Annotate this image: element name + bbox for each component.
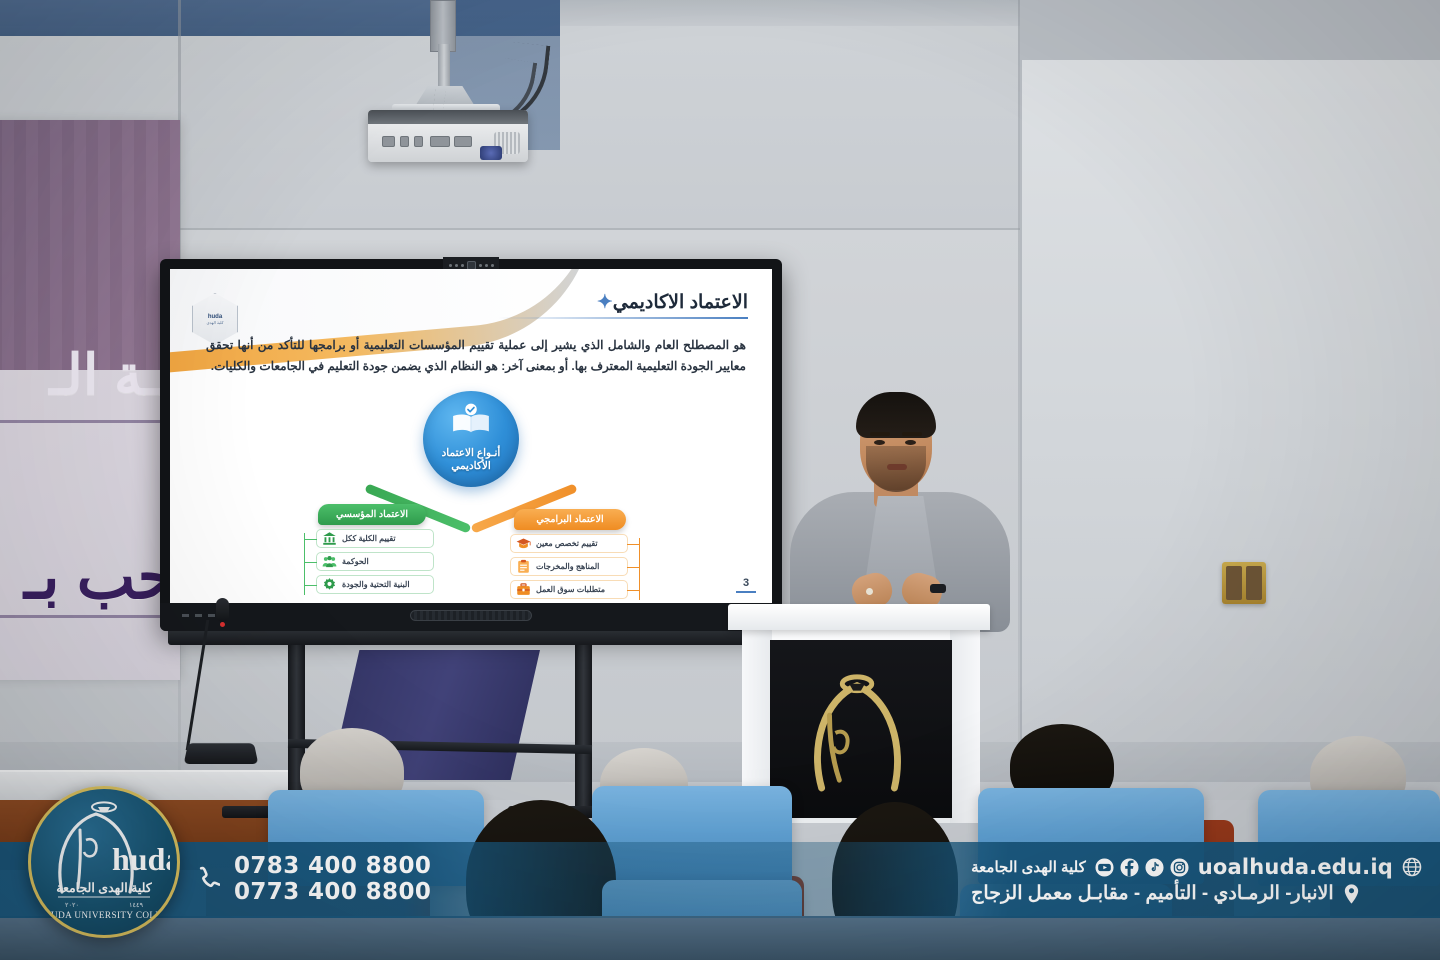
presenter-eye-right — [905, 440, 916, 445]
display-screen[interactable]: huda كلية الهدى الاعتماد الاكاديمي✦ هو ا… — [170, 269, 772, 603]
podium-top-surface — [728, 604, 990, 630]
presenter-watch — [930, 584, 946, 593]
diagram-center-label: أنـواع الاعتماد الأكاديمي — [442, 447, 501, 473]
backdrop-line-1: يـة الـ — [49, 342, 176, 408]
clipboard-icon — [516, 559, 531, 574]
banner-row-web-socials: uoalhuda.edu.iq — [971, 855, 1422, 879]
phone-number-1: 0783 400 8800 — [234, 854, 431, 880]
contact-banner: 0783 400 8800 0773 400 8800 uoalhuda.edu… — [0, 842, 1440, 918]
display-stand-top-bar — [168, 631, 774, 645]
location-pin-icon — [1343, 883, 1360, 905]
logo-year-right: ١٤٤٩ — [129, 902, 143, 909]
website-url[interactable]: uoalhuda.edu.iq — [1198, 855, 1393, 879]
logo-year-left: ٢٠٢٠ — [65, 902, 79, 909]
tiktok-icon[interactable] — [1145, 858, 1164, 877]
logo-arabic-name: كلية الهدى الجامعة — [56, 881, 153, 896]
social-handle: كلية الهدى الجامعة — [971, 858, 1086, 876]
right-wall-section — [1020, 0, 1440, 800]
podium-emblem-icon — [800, 664, 918, 794]
graduation-cap-icon — [516, 536, 531, 551]
book-check-icon — [449, 403, 493, 435]
slide-title-underline — [498, 317, 748, 319]
slide-title-bullet-icon: ✦ — [597, 292, 613, 313]
presenter-hair — [856, 392, 936, 438]
presentation-slide: huda كلية الهدى الاعتماد الاكاديمي✦ هو ا… — [170, 269, 772, 603]
interactive-display[interactable]: huda كلية الهدى الاعتماد الاكاديمي✦ هو ا… — [160, 259, 782, 631]
slide-hex-logo-arabic: كلية الهدى — [206, 320, 223, 325]
banner-right-group: uoalhuda.edu.iq — [971, 855, 1440, 905]
diagram-center-label-line1: أنـواع الاعتماد — [442, 447, 501, 459]
microphone-base — [184, 743, 259, 764]
university-logo[interactable]: huda كلية الهدى الجامعة ٢٠٢٠ ١٤٤٩ AL-HUD… — [28, 786, 180, 938]
slide-title-text: الاعتماد الاكاديمي — [613, 292, 748, 313]
slide-page-number-block: 3 — [736, 577, 756, 593]
diagram-subitems-institutional: تقييم الكلية ككل الحوكمة — [316, 529, 434, 598]
globe-icon — [1402, 857, 1422, 877]
briefcase-icon — [516, 582, 531, 597]
presenter-brow-right — [902, 432, 922, 436]
diagram-branch-label-programmatic: الاعتماد البرامجي — [514, 509, 626, 530]
diagram-subitem-label: تقييم الكلية ككل — [342, 534, 396, 543]
presenter — [790, 388, 1010, 628]
diagram-subitems-programmatic: تقييم تخصص معين المناهج والمخرجات — [510, 534, 628, 603]
diagram-subitem-label: البنية التحتية والجودة — [342, 580, 410, 589]
address-text: الانبار- الرمـادي - التأميم - مقابـل معم… — [971, 882, 1333, 905]
backdrop-line-2: حب بـ — [24, 540, 176, 613]
slide-body-text: هو المصطلح العام والشامل الذي يشير إلى ع… — [206, 335, 746, 377]
backdrop-photo — [0, 120, 180, 370]
phone-icon — [194, 865, 220, 895]
presenter-ring — [866, 588, 873, 595]
diagram-subitem: الحوكمة — [316, 552, 434, 571]
logo-wordmark: huda — [112, 841, 170, 877]
foreground-shadow-band — [0, 916, 1440, 960]
wall-outlet — [1222, 562, 1266, 604]
backdrop-divider-1 — [0, 420, 180, 423]
diagram-subitem: تقييم الكلية ككل — [316, 529, 434, 548]
diagram-subitem-label: تقييم تخصص معين — [536, 539, 598, 548]
bank-icon — [322, 531, 337, 546]
display-speaker-grille — [410, 610, 532, 621]
projector-lens — [480, 146, 502, 160]
diagram-subitem: متطلبات سوق العمل — [510, 580, 628, 599]
right-wall-upper — [1020, 0, 1440, 60]
diagram-subitem: البنية التحتية والجودة — [316, 575, 434, 594]
ceiling-projector — [368, 110, 528, 162]
display-bottom-bezel — [160, 603, 782, 631]
display-stand-leg-right — [575, 645, 592, 815]
slide-title: الاعتماد الاكاديمي✦ — [498, 291, 748, 314]
presenter-eye-left — [874, 440, 885, 445]
diagram-subitem-label: الحوكمة — [342, 557, 369, 566]
display-indicator-lights — [182, 614, 215, 617]
slide-page-number: 3 — [736, 577, 756, 589]
microphone-head — [216, 598, 229, 622]
diagram-subitem: المناهج والمخرجات — [510, 557, 628, 576]
slide-title-block: الاعتماد الاكاديمي✦ — [498, 291, 748, 319]
screenshot-stage: يـة الـ حب بـ #تعليـ — [0, 0, 1440, 960]
presenter-brow-left — [870, 432, 890, 436]
banner-row-address: الانبار- الرمـادي - التأميم - مقابـل معم… — [971, 882, 1359, 905]
social-icons[interactable] — [1095, 858, 1189, 877]
slide-diagram: أنـواع الاعتماد الأكاديمي الاعتماد المؤس… — [170, 387, 772, 603]
youtube-icon[interactable] — [1095, 858, 1114, 877]
diagram-subitem-label: متطلبات سوق العمل — [536, 585, 605, 594]
diagram-center-label-line2: الأكاديمي — [451, 460, 491, 472]
facebook-icon[interactable] — [1120, 858, 1139, 877]
microphone-led-icon — [220, 622, 225, 627]
presenter-mouth — [887, 464, 907, 470]
gear-icon — [322, 577, 337, 592]
al-huda-logo-mark: huda كلية الهدى الجامعة ٢٠٢٠ ١٤٤٩ AL-HUD… — [38, 796, 170, 928]
logo-english-name: AL-HUDA UNIVERSITY COLLEGE — [38, 910, 170, 920]
diagram-branch-label-institutional: الاعتماد المؤسسي — [318, 504, 426, 525]
phone-numbers: 0783 400 8800 0773 400 8800 — [234, 854, 431, 906]
podium-side-right — [950, 628, 980, 823]
diagram-subitem-label: المناهج والمخرجات — [536, 562, 599, 571]
event-backdrop-banner: يـة الـ حب بـ #تعليـ — [0, 120, 180, 680]
diagram-center-node: أنـواع الاعتماد الأكاديمي — [423, 391, 519, 487]
people-icon — [322, 554, 337, 569]
instagram-icon[interactable] — [1170, 858, 1189, 877]
backdrop-divider-2 — [0, 615, 180, 618]
phone-number-2: 0773 400 8800 — [234, 880, 431, 906]
diagram-subitem: تقييم تخصص معين — [510, 534, 628, 553]
slide-page-number-underline — [736, 591, 756, 593]
